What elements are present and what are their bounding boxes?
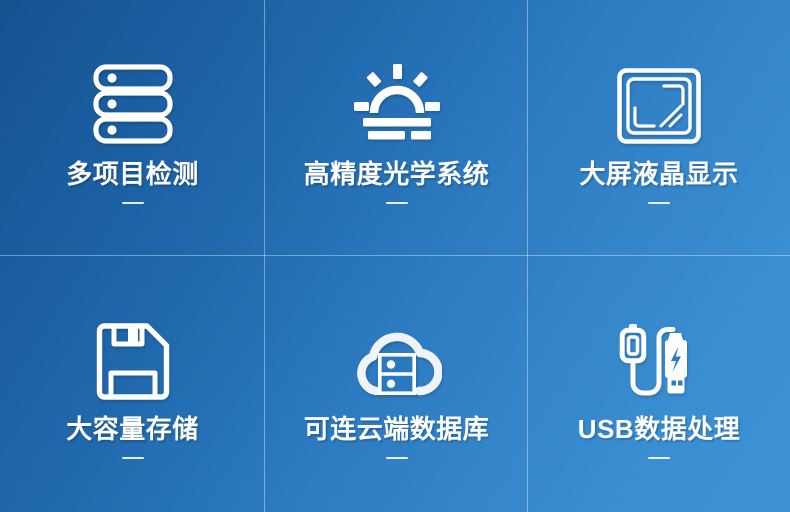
cloud-database-icon bbox=[352, 305, 442, 401]
feature-label: 大容量存储 bbox=[66, 415, 199, 444]
sunrise-optics-icon bbox=[354, 48, 440, 144]
feature-label: 多项目检测 bbox=[66, 160, 199, 189]
lcd-screen-icon bbox=[617, 48, 701, 144]
feature-label: 大屏液晶显示 bbox=[579, 160, 738, 189]
feature-label: 高精度光学系统 bbox=[304, 160, 490, 189]
feature-card-multi-item-detection[interactable]: 多项目检测 bbox=[0, 0, 265, 256]
floppy-disk-icon bbox=[95, 305, 171, 401]
label-underline-dash bbox=[648, 457, 670, 460]
label-underline-dash bbox=[386, 457, 408, 460]
feature-banner: 多项目检测 bbox=[0, 0, 790, 512]
feature-card-large-capacity-storage[interactable]: 大容量存储 bbox=[0, 256, 265, 512]
feature-card-large-lcd-display[interactable]: 大屏液晶显示 bbox=[528, 0, 790, 256]
label-underline-dash bbox=[386, 202, 408, 205]
server-rack-icon bbox=[91, 48, 175, 144]
feature-grid: 多项目检测 bbox=[0, 0, 790, 512]
feature-card-high-precision-optics[interactable]: 高精度光学系统 bbox=[265, 0, 528, 256]
feature-label: USB数据处理 bbox=[578, 415, 740, 444]
feature-card-usb-data-processing[interactable]: USB数据处理 bbox=[528, 256, 790, 512]
usb-cable-drive-icon bbox=[619, 305, 699, 401]
label-underline-dash bbox=[122, 202, 144, 205]
feature-label: 可连云端数据库 bbox=[304, 415, 490, 444]
label-underline-dash bbox=[122, 457, 144, 460]
label-underline-dash bbox=[648, 202, 670, 205]
feature-card-cloud-database[interactable]: 可连云端数据库 bbox=[265, 256, 528, 512]
